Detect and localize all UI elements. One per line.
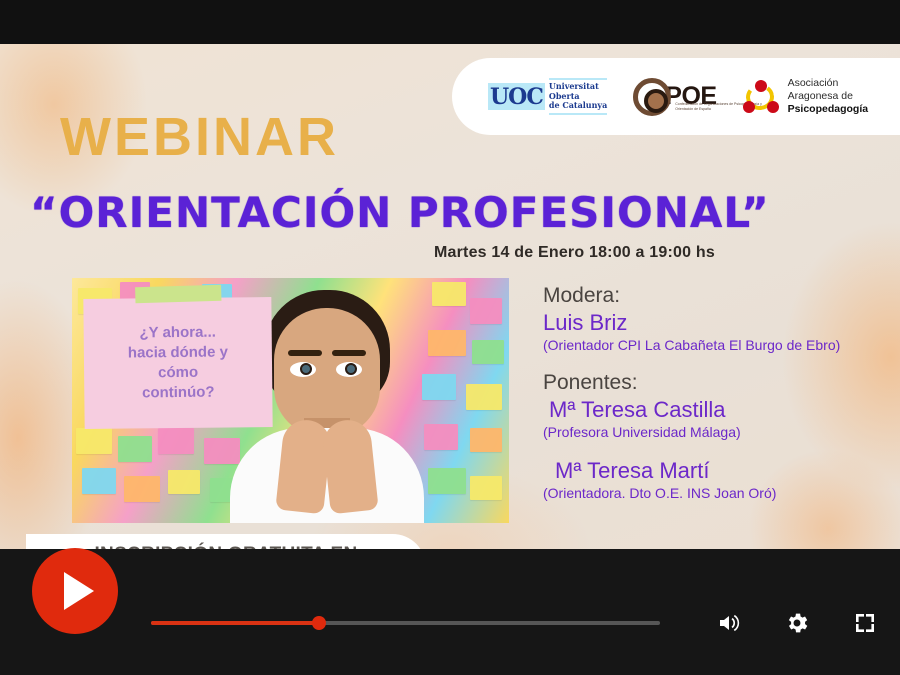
speaker-1-affiliation: (Profesora Universidad Málaga) bbox=[543, 424, 893, 442]
aap-line3: Psicopedagogía bbox=[788, 103, 869, 115]
progress-thumb[interactable] bbox=[312, 616, 326, 630]
play-icon bbox=[64, 572, 94, 610]
speaker-2-affiliation: (Orientadora. Dto O.E. INS Joan Oró) bbox=[543, 485, 893, 503]
speakers-role-label: Ponentes: bbox=[543, 371, 893, 395]
poster-title: “ORIENTACIÓN PROFESIONAL” bbox=[30, 188, 770, 237]
moderator-name: Luis Briz bbox=[543, 310, 893, 336]
copoe-logo: POE Confederación de Organizaciones de P… bbox=[633, 78, 716, 116]
uoc-mark: UOC bbox=[488, 83, 545, 110]
inscription-banner: INSCRIPCIÓN GRATUITA EN www.psicoaragon.… bbox=[26, 534, 426, 549]
sticky-note-callout: ¿Y ahora... hacia dónde y cómo continúo? bbox=[83, 297, 272, 429]
asociacion-aragonesa-logo: Asociación Aragonesa de Psicopedagogía bbox=[743, 77, 869, 116]
copoe-ring-icon bbox=[633, 78, 671, 116]
play-button[interactable] bbox=[32, 548, 118, 634]
sticky-note-text: ¿Y ahora... hacia dónde y cómo continúo? bbox=[120, 322, 237, 404]
volume-icon[interactable] bbox=[714, 608, 744, 638]
speakers-block: Modera: Luis Briz (Orientador CPI La Cab… bbox=[543, 282, 893, 503]
player-controls-bar bbox=[0, 549, 900, 675]
video-poster[interactable]: WEBINAR “ORIENTACIÓN PROFESIONAL” Martes… bbox=[0, 44, 900, 549]
progress-bar[interactable] bbox=[151, 621, 660, 625]
fullscreen-icon[interactable] bbox=[850, 608, 880, 638]
tape-strip bbox=[135, 285, 221, 303]
aap-line2: Aragonesa de bbox=[788, 90, 853, 102]
triangle-dots-icon bbox=[743, 80, 779, 114]
poster-datetime: Martes 14 de Enero 18:00 a 19:00 hs bbox=[434, 244, 715, 262]
uoc-logo: UOC Universitat Oberta de Catalunya bbox=[488, 78, 607, 115]
gear-icon[interactable] bbox=[782, 608, 812, 638]
progress-fill bbox=[151, 621, 319, 625]
speaker-2-name: Mª Teresa Martí bbox=[543, 458, 893, 484]
aap-line1: Asociación bbox=[788, 77, 839, 89]
poster-photo: ¿Y ahora... hacia dónde y cómo continúo? bbox=[72, 278, 509, 523]
speaker-1-name: Mª Teresa Castilla bbox=[543, 397, 893, 423]
video-player: WEBINAR “ORIENTACIÓN PROFESIONAL” Martes… bbox=[0, 0, 900, 675]
moderator-role-label: Modera: bbox=[543, 284, 893, 308]
moderator-affiliation: (Orientador CPI La Cabañeta El Burgo de … bbox=[543, 337, 893, 355]
logo-bar: UOC Universitat Oberta de Catalunya POE … bbox=[452, 58, 900, 135]
poster-eyebrow: WEBINAR bbox=[60, 106, 339, 168]
asociacion-aragonesa-text: Asociación Aragonesa de Psicopedagogía bbox=[788, 77, 869, 116]
uoc-logo-text: Universitat Oberta de Catalunya bbox=[549, 78, 607, 115]
